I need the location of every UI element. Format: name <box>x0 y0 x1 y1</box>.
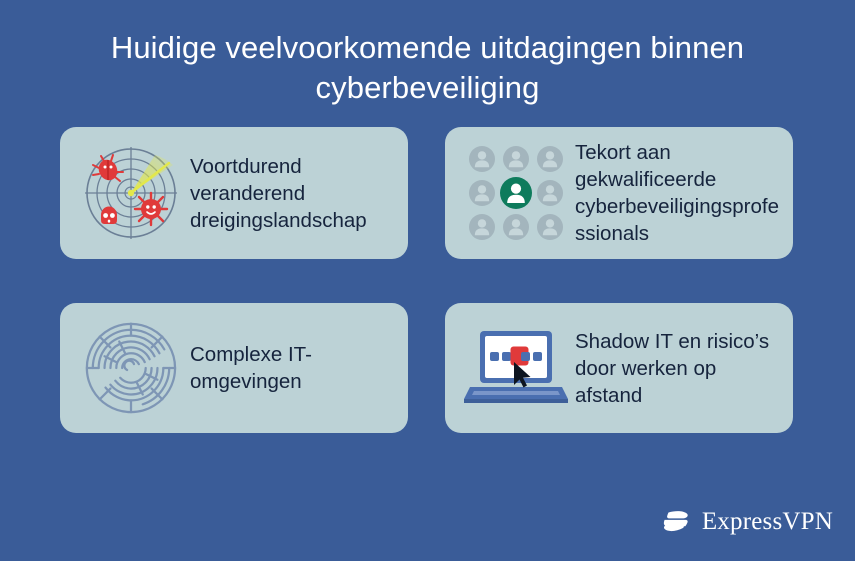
laptop-cursor-icon <box>457 325 575 411</box>
maze-icon <box>72 319 190 417</box>
expressvpn-logo: ExpressVPN <box>659 505 833 539</box>
slide-root: Huidige veelvoorkomende uitdagingen binn… <box>0 0 855 561</box>
card-threat-landscape: Voortdurend veranderend dreigingslandsch… <box>60 127 408 259</box>
card-shadow-it-label: Shadow IT en risico’s door werken op afs… <box>575 328 793 409</box>
people-grid-highlighted-avatar <box>500 177 532 209</box>
card-threat-landscape-label: Voortdurend veranderend dreigingslandsch… <box>190 153 408 234</box>
card-complex-it: Complexe IT-omgevingen <box>60 303 408 433</box>
expressvpn-e-mark-icon <box>659 505 693 539</box>
card-skills-shortage: Tekort aan gekwalificeerde cyberbeveilig… <box>445 127 793 259</box>
people-grid-icon <box>457 145 575 241</box>
radar-threats-icon <box>72 143 190 243</box>
expressvpn-wordmark: ExpressVPN <box>702 508 833 536</box>
page-title: Huidige veelvoorkomende uitdagingen binn… <box>60 28 795 108</box>
card-shadow-it: Shadow IT en risico’s door werken op afs… <box>445 303 793 433</box>
card-complex-it-label: Complexe IT-omgevingen <box>190 341 408 395</box>
card-skills-shortage-label: Tekort aan gekwalificeerde cyberbeveilig… <box>575 139 793 247</box>
